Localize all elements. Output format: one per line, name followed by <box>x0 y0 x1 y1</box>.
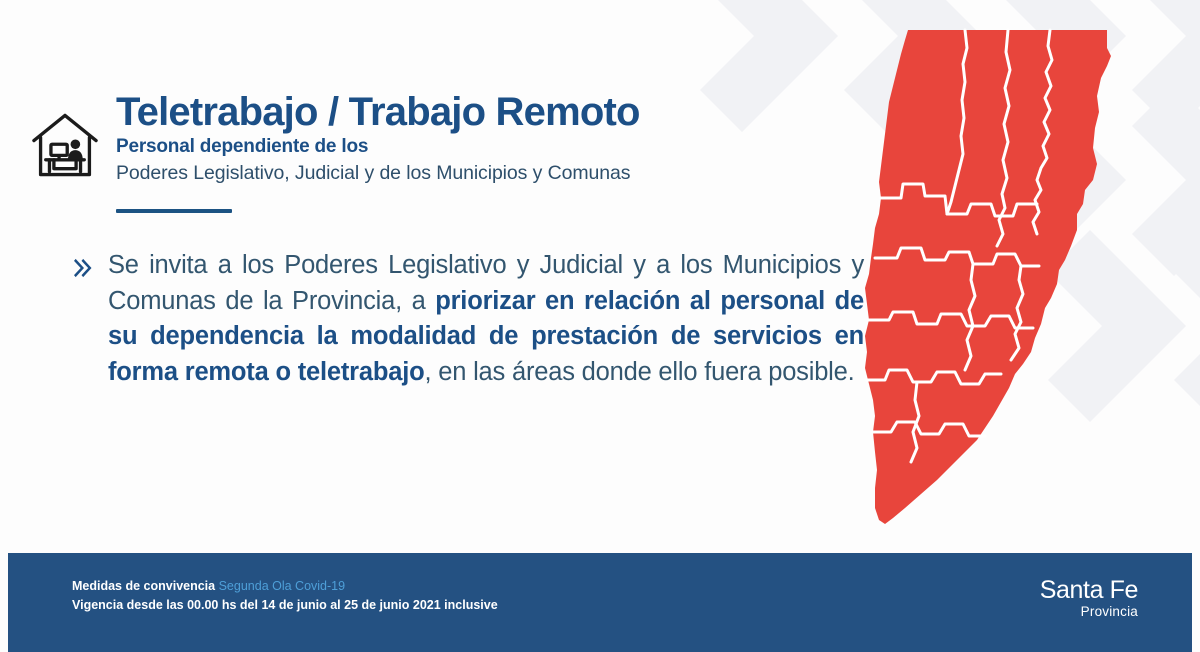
footer-line-1: Medidas de convivencia Segunda Ola Covid… <box>72 577 498 596</box>
body-segment-3: , en las áreas donde ello fuera posible. <box>424 358 854 386</box>
subtitle-regular: Poderes Legislativo, Judicial y de los M… <box>116 162 838 185</box>
footer-text-group: Medidas de convivencia Segunda Ola Covid… <box>72 577 498 615</box>
title-divider <box>116 209 232 213</box>
subtitle-bold: Personal dependiente de los <box>116 136 838 158</box>
logo-secondary-text: Provincia <box>1040 603 1138 622</box>
body-paragraph: Se invita a los Poderes Legislativo y Ju… <box>108 248 864 391</box>
title-group: Teletrabajo / Trabajo Remoto Personal de… <box>116 92 838 213</box>
header-block: Teletrabajo / Trabajo Remoto Personal de… <box>28 92 838 213</box>
infographic-canvas: Teletrabajo / Trabajo Remoto Personal de… <box>0 0 1200 652</box>
santa-fe-province-map <box>845 8 1185 538</box>
footer-validity-text: Vigencia desde las 00.00 hs del 14 de ju… <box>72 596 498 615</box>
footer-bar: Medidas de convivencia Segunda Ola Covid… <box>8 553 1192 652</box>
footer-campaign-label: Segunda Ola Covid-19 <box>219 579 345 593</box>
home-office-desk-icon <box>28 108 102 182</box>
logo-primary-text: Santa Fe <box>1040 577 1138 603</box>
page-title: Teletrabajo / Trabajo Remoto <box>116 92 838 134</box>
body-block: Se invita a los Poderes Legislativo y Ju… <box>74 248 864 391</box>
footer-measures-label: Medidas de convivencia <box>72 579 215 593</box>
santa-fe-logo: Santa Fe Provincia <box>1040 577 1138 622</box>
double-chevron-right-icon <box>74 257 94 279</box>
